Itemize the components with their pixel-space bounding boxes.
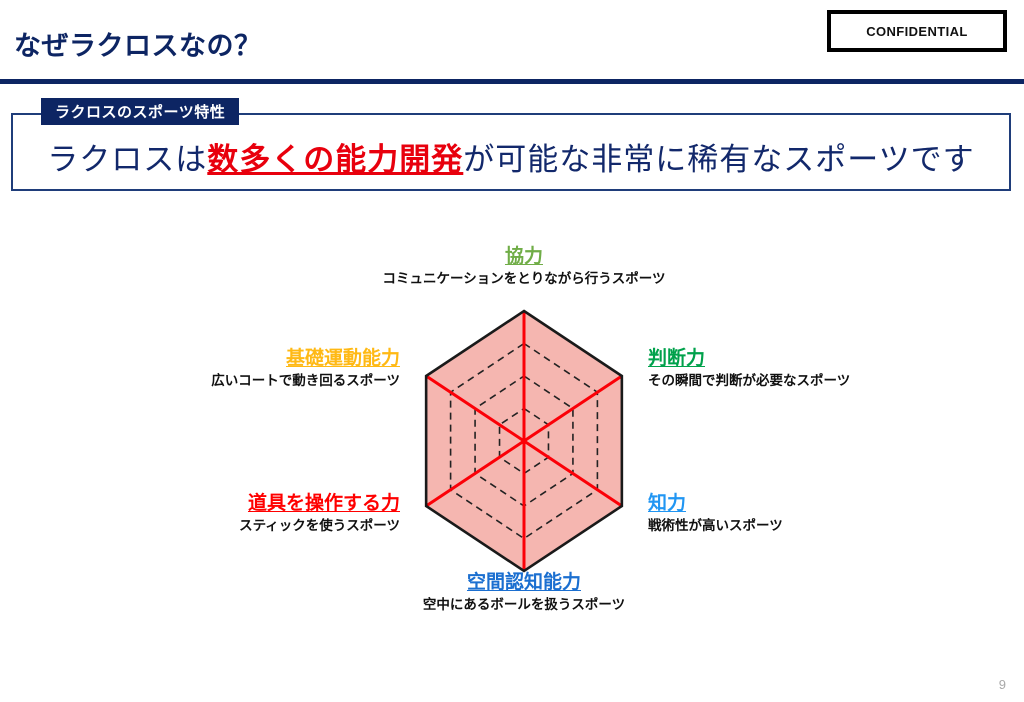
banner-text-suffix: が可能な非常に稀有なスポーツです [463, 142, 974, 177]
page-title: なぜラクロスなの？ [14, 24, 262, 63]
radar-chart: 協力 コミュニケーションをとりながら行うスポーツ 判断力 その瞬間で判断が必要な… [0, 200, 1024, 650]
axis-desc-intellect: 戦術性が高いスポーツ [648, 517, 988, 535]
banner-text-prefix: ラクロスは [47, 142, 207, 177]
axis-desc-cooperation: コミュニケーションをとりながら行うスポーツ [324, 270, 724, 288]
axis-title-cooperation: 協力 [324, 246, 724, 268]
banner-tab: ラクロスのスポーツ特性 [41, 98, 239, 125]
axis-label-tool-handling: 道具を操作する力 スティックを使うスポーツ [40, 493, 400, 534]
axis-label-cooperation: 協力 コミュニケーションをとりながら行うスポーツ [324, 246, 724, 287]
axis-title-intellect: 知力 [648, 493, 988, 515]
axis-label-basic-athletic: 基礎運動能力 広いコートで動き回るスポーツ [40, 348, 400, 389]
axis-desc-tool-handling: スティックを使うスポーツ [40, 517, 400, 535]
axis-label-judgement: 判断力 その瞬間で判断が必要なスポーツ [648, 348, 988, 389]
axis-title-basic-athletic: 基礎運動能力 [40, 348, 400, 370]
page-number: 9 [999, 677, 1006, 692]
confidential-badge: CONFIDENTIAL [827, 10, 1007, 52]
header-divider [0, 79, 1024, 84]
axis-desc-spatial-awareness: 空中にあるボールを扱うスポーツ [324, 596, 724, 614]
confidential-label: CONFIDENTIAL [866, 24, 968, 39]
axis-desc-judgement: その瞬間で判断が必要なスポーツ [648, 372, 988, 390]
banner-tab-label: ラクロスのスポーツ特性 [55, 101, 225, 122]
axis-desc-basic-athletic: 広いコートで動き回るスポーツ [40, 372, 400, 390]
axis-title-judgement: 判断力 [648, 348, 988, 370]
axis-label-spatial-awareness: 空間認知能力 空中にあるボールを扱うスポーツ [324, 572, 724, 613]
axis-title-spatial-awareness: 空間認知能力 [324, 572, 724, 594]
axis-label-intellect: 知力 戦術性が高いスポーツ [648, 493, 988, 534]
axis-title-tool-handling: 道具を操作する力 [40, 493, 400, 515]
banner-headline: ラクロスは数多くの能力開発が可能な非常に稀有なスポーツです [11, 134, 1011, 179]
banner-text-emphasis: 数多くの能力開発 [207, 142, 463, 177]
